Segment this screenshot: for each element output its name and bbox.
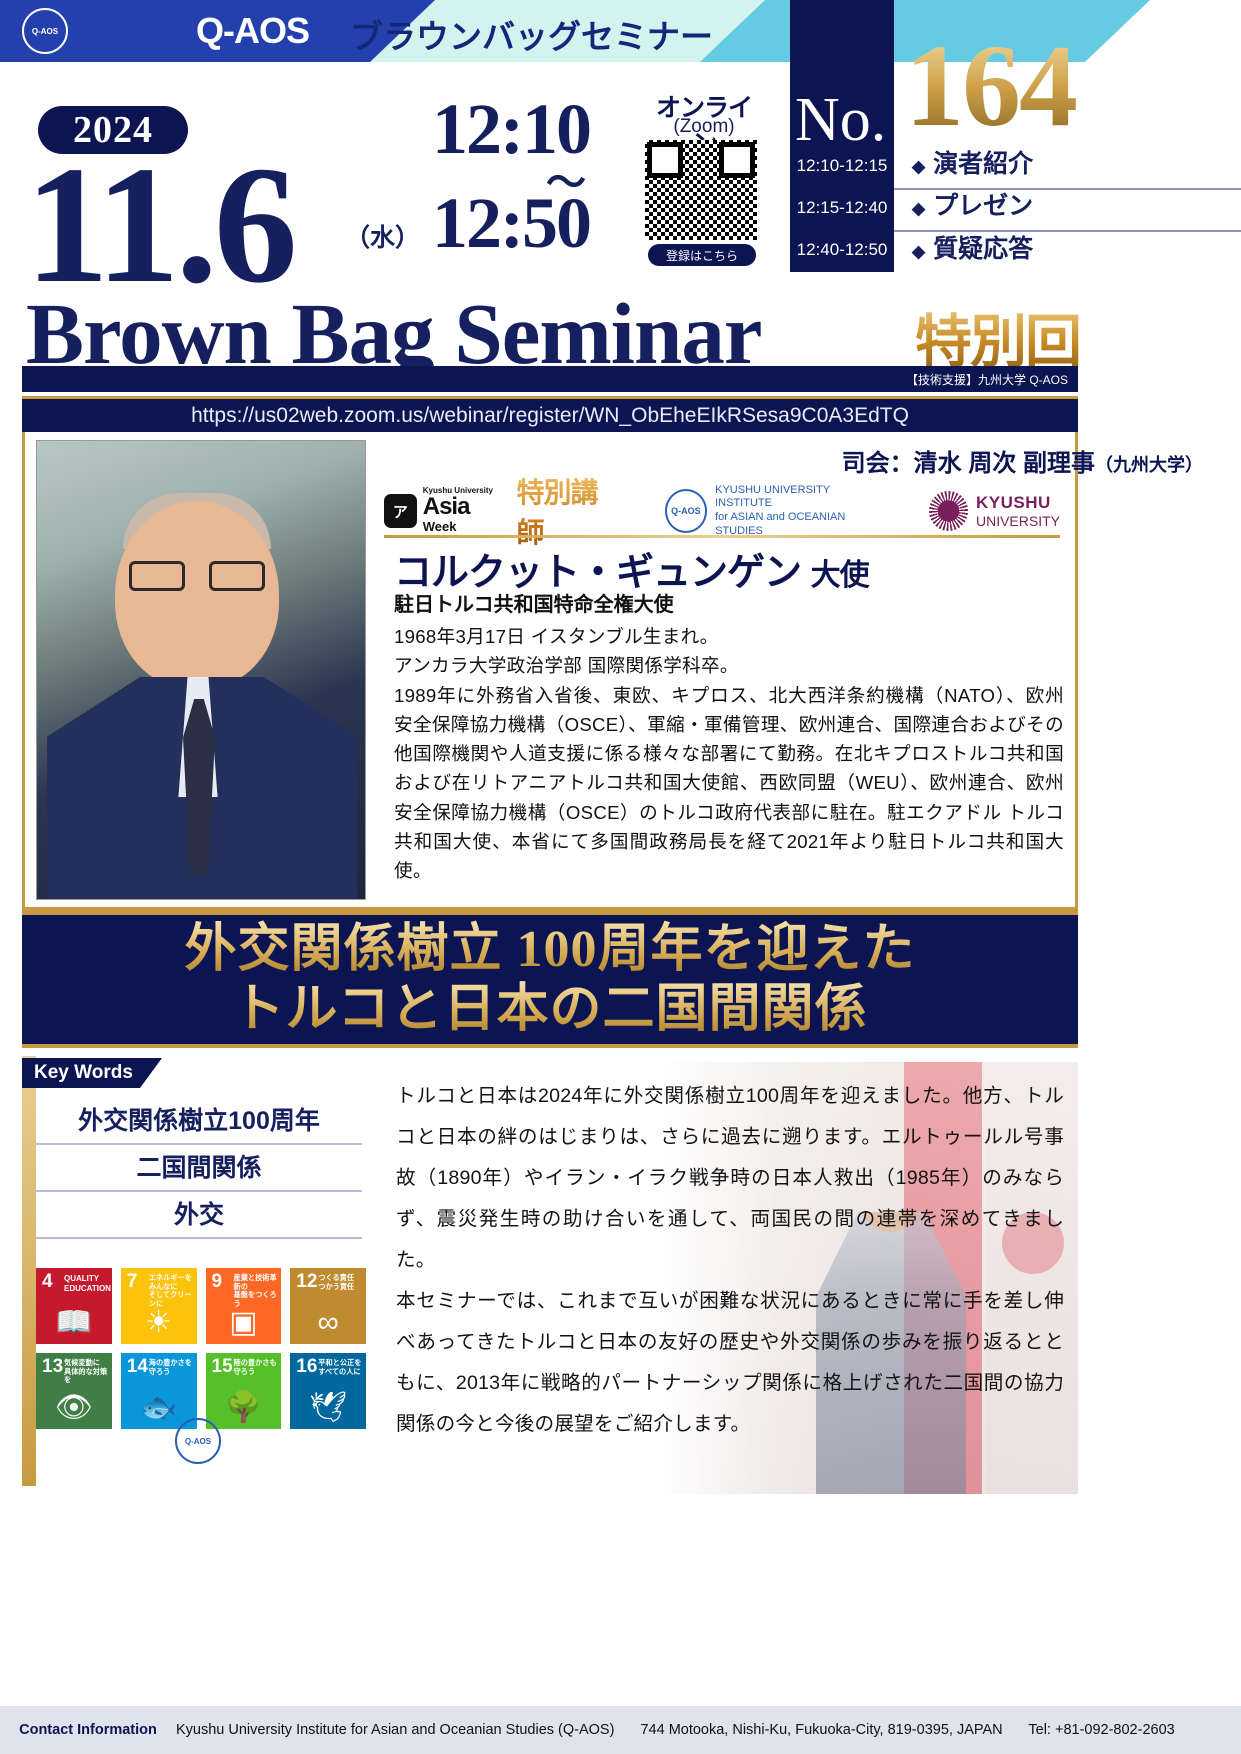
- speaker-bio: 1968年3月17日 イスタンブル生まれ。アンカラ大学政治学部 国際関係学科卒。…: [394, 622, 1064, 886]
- sdg-caption: QUALITYEDUCATION: [64, 1274, 109, 1294]
- list-item: 二国間関係: [36, 1145, 362, 1192]
- schedule-item: ◆プレゼン: [894, 185, 1241, 232]
- sdg-number: 15: [212, 1358, 233, 1376]
- sdg-icon-13: 13気候変動に具体的な対策を👁: [36, 1353, 112, 1429]
- sdg-number: 12: [296, 1273, 317, 1291]
- qaos-seal-icon: Q-AOS: [22, 8, 68, 54]
- footer-org: Kyushu University Institute for Asian an…: [176, 1722, 614, 1738]
- keywords-list: 外交関係樹立100周年 二国間関係 外交: [36, 1098, 362, 1239]
- sdg-glyph-icon: ▣: [206, 1308, 282, 1338]
- asia-week-logo-icon: ア: [384, 494, 417, 528]
- sdg-caption: エネルギーをみんなにそしてクリーンに: [149, 1274, 194, 1308]
- date-monthday: 11.6: [25, 150, 294, 300]
- sdg-icon-4: 4QUALITYEDUCATION📖: [36, 1268, 112, 1344]
- registration-url-bar[interactable]: https://us02web.zoom.us/webinar/register…: [22, 396, 1078, 432]
- gold-divider: [384, 535, 1060, 538]
- ku-line-2: UNIVERSITY: [976, 513, 1060, 529]
- footer-tel: Tel: +81-092-802-2603: [1028, 1722, 1174, 1738]
- sdg-glyph-icon: 👁: [36, 1393, 112, 1423]
- qaos-footer-logo-icon: Q-AOS: [175, 1418, 221, 1464]
- sdg-number: 13: [42, 1358, 63, 1376]
- footer-address: 744 Motooka, Nishi-Ku, Fukuoka-City, 819…: [640, 1722, 1002, 1738]
- sdg-icon-9: 9産業と技術革新の基盤をつくろう▣: [206, 1268, 282, 1344]
- keywords-sidebar-accent: [22, 1056, 36, 1486]
- sdg-caption: つくる責任つかう責任: [318, 1274, 363, 1291]
- list-item: 外交: [36, 1192, 362, 1239]
- sdg-caption: 平和と公正をすべての人に: [318, 1359, 363, 1376]
- qaos-line-1: KYUSHU UNIVERSITY INSTITUTE: [715, 484, 889, 512]
- tech-support-bar: 【技術支援】九州大学 Q-AOS: [22, 366, 1078, 392]
- kyushu-university-logo-text: KYUSHU UNIVERSITY: [976, 493, 1060, 529]
- sdg-number: 9: [212, 1273, 223, 1291]
- schedule-item: ◆質疑応答: [894, 228, 1241, 273]
- org-name: Q-AOS: [196, 10, 309, 52]
- tech-support-text: 【技術支援】九州大学 Q-AOS: [906, 371, 1068, 388]
- asia-week-asia: Asia: [423, 493, 470, 520]
- sdg-glyph-icon: 🕊: [290, 1393, 366, 1423]
- footer-bar: Contact Information Kyushu University In…: [0, 1706, 1241, 1754]
- sdg-number: 4: [42, 1273, 53, 1291]
- footer-title: Contact Information: [0, 1722, 176, 1738]
- ku-line-1: KYUSHU: [976, 493, 1060, 513]
- sdg-glyph-icon: 🌳: [206, 1393, 282, 1423]
- registration-url[interactable]: https://us02web.zoom.us/webinar/register…: [191, 404, 909, 428]
- table-row: 12:10-12:15 ◆演者紹介: [790, 145, 1241, 187]
- moderator-line: 司会：清水 周次 副理事（九州大学）: [842, 443, 1203, 478]
- schedule-time: 12:40-12:50: [790, 229, 894, 271]
- schedule-time: 12:15-12:40: [790, 187, 894, 229]
- end-time: 12:50: [432, 182, 590, 265]
- diamond-icon: ◆: [912, 242, 925, 261]
- sdg-caption: 産業と技術革新の基盤をつくろう: [234, 1274, 279, 1308]
- sdg-number: 16: [296, 1358, 317, 1376]
- sdg-glyph-icon: 🐟: [121, 1393, 197, 1423]
- schedule-time: 12:10-12:15: [790, 145, 894, 187]
- sdg-icon-12: 12つくる責任つかう責任∞: [290, 1268, 366, 1344]
- sdg-number: 7: [127, 1273, 138, 1291]
- sdg-caption: 気候変動に具体的な対策を: [64, 1359, 109, 1385]
- asia-week-week: Week: [423, 519, 457, 534]
- abstract-section: トルコと日本は2024年に外交関係樹立100周年を迎えました。他方、トルコと日本…: [384, 1062, 1078, 1494]
- sdg-row: 4QUALITYEDUCATION📖7エネルギーをみんなにそしてクリーンに☀9産…: [36, 1268, 366, 1344]
- day-of-week: （水）: [345, 218, 420, 254]
- sdg-icon-15: 15陸の豊かさも守ろう🌳: [206, 1353, 282, 1429]
- kyushu-university-crest-icon: [929, 491, 968, 531]
- sdg-glyph-icon: ∞: [290, 1308, 366, 1338]
- table-row: 12:40-12:50 ◆質疑応答: [790, 229, 1241, 271]
- topic-line-1: 外交関係樹立 100周年を迎えた: [184, 920, 915, 980]
- speaker-role: 駐日トルコ共和国特命全権大使: [394, 588, 674, 617]
- qr-code-icon[interactable]: [645, 140, 757, 240]
- seminar-topic-banner: 外交関係樹立 100周年を迎えた トルコと日本の二国間関係: [22, 908, 1078, 1048]
- sdg-icon-16: 16平和と公正をすべての人に🕊: [290, 1353, 366, 1429]
- glasses-icon: [129, 561, 265, 591]
- schedule-item: ◆演者紹介: [894, 143, 1241, 190]
- series-name: ブラウンバッグセミナー: [350, 10, 713, 58]
- table-row: 12:15-12:40 ◆プレゼン: [790, 187, 1241, 229]
- schedule-table: 12:10-12:15 ◆演者紹介 12:15-12:40 ◆プレゼン 12:4…: [790, 145, 1241, 271]
- diamond-icon: ◆: [912, 157, 925, 176]
- footer-contact: Kyushu University Institute for Asian an…: [176, 1722, 1197, 1738]
- diamond-icon: ◆: [912, 199, 925, 218]
- qaos-logo-text: KYUSHU UNIVERSITY INSTITUTE for ASIAN an…: [715, 484, 889, 539]
- sdg-caption: 陸の豊かさも守ろう: [234, 1359, 279, 1376]
- special-lecturer-badge: 特別講師: [517, 471, 621, 551]
- abstract-text: トルコと日本は2024年に外交関係樹立100周年を迎えました。他方、トルコと日本…: [396, 1076, 1064, 1445]
- topic-line-2: トルコと日本の二国間関係: [233, 980, 868, 1040]
- sdg-icon-grid: 4QUALITYEDUCATION📖7エネルギーをみんなにそしてクリーンに☀9産…: [36, 1268, 366, 1438]
- list-item: 外交関係樹立100周年: [36, 1098, 362, 1145]
- sdg-caption: 海の豊かさを守ろう: [149, 1359, 194, 1376]
- qaos-logo-icon: Q-AOS: [665, 489, 708, 533]
- seminar-number: 164: [905, 18, 1076, 154]
- register-here-badge[interactable]: 登録はこちら: [648, 244, 756, 266]
- platform-label: (Zoom): [646, 116, 762, 138]
- sdg-icon-7: 7エネルギーをみんなにそしてクリーンに☀: [121, 1268, 197, 1344]
- sdg-glyph-icon: ☀: [121, 1308, 197, 1338]
- speaker-photo: [36, 440, 366, 900]
- sdg-glyph-icon: 📖: [36, 1308, 112, 1338]
- sdg-icon-14: 14海の豊かさを守ろう🐟: [121, 1353, 197, 1429]
- keywords-heading: Key Words: [22, 1058, 162, 1088]
- logo-row: ア Kyushu University Asia Week 特別講師 Q-AOS…: [384, 488, 1060, 534]
- sdg-number: 14: [127, 1358, 148, 1376]
- face-shape: [115, 501, 279, 689]
- asia-week-logo-text: Kyushu University Asia Week: [423, 487, 505, 535]
